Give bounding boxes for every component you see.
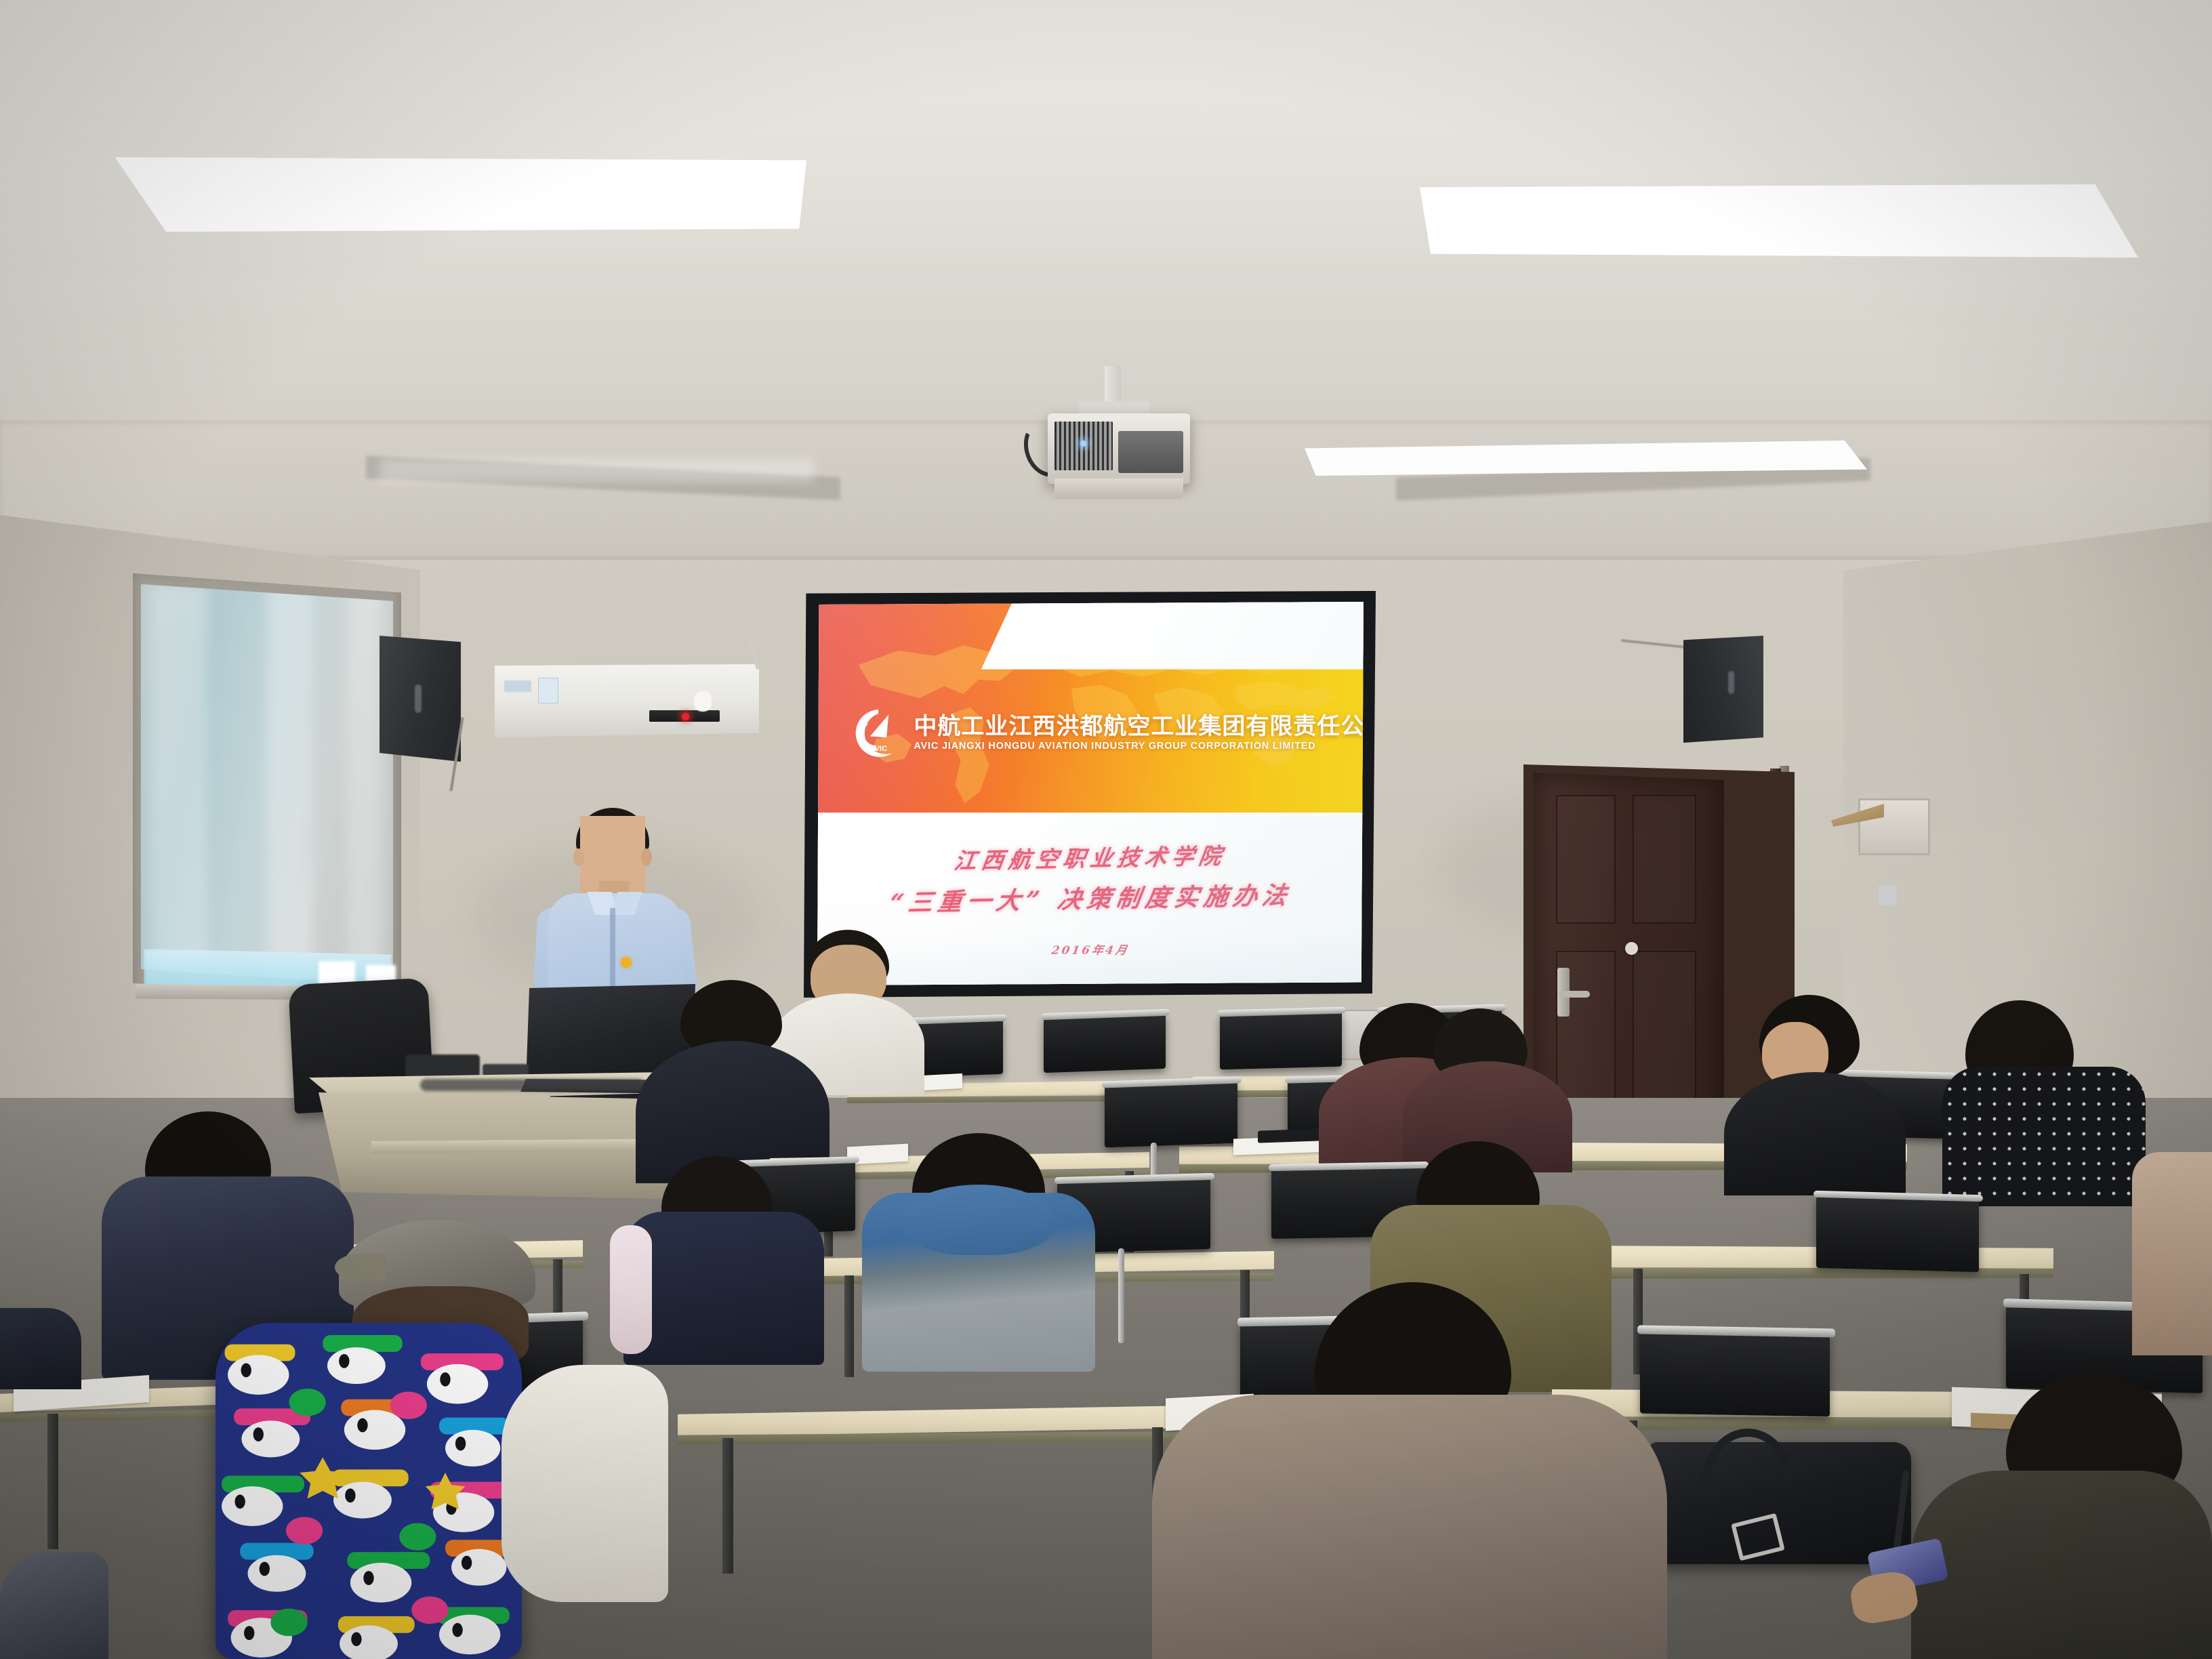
slide-logo-row: AVIC 中航工业江西洪都航空工业集团有限责任公司 AVIC JIANGXI H… (853, 708, 1333, 759)
ceiling-light-glow-left-back (380, 458, 813, 483)
snoopy-backpack-pattern (216, 1323, 522, 1659)
attendee-left-edge-shoulder (0, 1308, 81, 1389)
attendee-tan-jacket-foreground (1152, 1395, 1667, 1659)
avic-logo-wordmark: AVIC (869, 744, 887, 752)
window-roller-blind[interactable] (141, 584, 393, 985)
door-handle-lever[interactable] (1559, 991, 1590, 998)
slide-banner: AVIC 中航工业江西洪都航空工业集团有限责任公司 AVIC JIANGXI H… (817, 602, 1364, 813)
attendee-phone-user (1911, 1471, 2212, 1659)
presenter-ear-left (573, 848, 584, 866)
slide-company-name-cn: 中航工业江西洪都航空工业集团有限责任公司 (914, 714, 1364, 739)
chair-row4-b[interactable] (1044, 1013, 1166, 1073)
air-conditioner-sticker-1 (504, 680, 531, 692)
door-peephole-icon (1625, 942, 1638, 955)
speaker-right-port (1728, 671, 1734, 694)
wall-outlet[interactable] (1879, 885, 1896, 905)
avic-logo: AVIC (853, 708, 904, 759)
attendee-polkadot-blouse (1942, 1067, 2146, 1206)
presenter-ear-right (641, 848, 652, 866)
presenter-badge (621, 957, 632, 968)
chair-row2-d[interactable] (1816, 1196, 1979, 1272)
air-conditioner-power-led (682, 713, 689, 720)
attendee-navy-vest (623, 1212, 824, 1365)
air-conditioner-flap (694, 691, 712, 712)
speaker-left-port (415, 684, 422, 713)
presentation-slide: AVIC 中航工业江西洪都航空工业集团有限责任公司 AVIC JIANGXI H… (817, 602, 1364, 985)
projector-lens-housing (1054, 478, 1183, 499)
chair-row4-c[interactable] (1220, 1011, 1342, 1070)
slide-title-line-2: “三重一大” 决策制度实施办法 (887, 876, 1294, 918)
slide-title-line-1: 江西航空职业技术学院 (952, 838, 1229, 876)
classroom-photo-scene: AVIC 中航工业江西洪都航空工业集团有限责任公司 AVIC JIANGXI H… (0, 0, 2212, 1659)
chair-row3-a[interactable] (1105, 1081, 1237, 1148)
entry-door[interactable] (1533, 773, 1724, 1144)
desk-leg-r1-2 (722, 1438, 733, 1574)
attendee-blue-gray-hoodie-hood (903, 1185, 1054, 1255)
attendee-bottom-left-corner (0, 1552, 108, 1659)
desk-cables (420, 1079, 644, 1091)
air-conditioner-sticker-2 (538, 678, 558, 703)
slide-white-wedge (981, 602, 1364, 670)
projector-power-led (1080, 441, 1086, 447)
attendee-flat-cap-brim (335, 1254, 386, 1281)
attendee-right-edge-shoulder (2132, 1152, 2212, 1355)
ceiling-light-panel-right (1420, 184, 2138, 258)
snoopy-backpack[interactable] (216, 1323, 522, 1659)
slide-body: 江西航空职业技术学院 “三重一大” 决策制度实施办法 2016年4月 (817, 813, 1364, 985)
desk-row2-right-edge (1579, 1267, 2053, 1279)
attendee-black-top-right (1724, 1072, 1906, 1195)
attendee-snoopy-backpack-sleeve (501, 1365, 668, 1602)
electrical-panel[interactable] (1858, 798, 1930, 855)
projector-rear-panel (1118, 431, 1183, 473)
attendee-navy-vest-sleeve (610, 1225, 652, 1354)
chair-row1-c[interactable] (1640, 1331, 1830, 1417)
speaker-right (1683, 636, 1763, 743)
air-conditioner (495, 664, 759, 737)
slide-company-name-en: AVIC JIANGXI HONGDU AVIATION INDUSTRY GR… (914, 741, 1364, 752)
chair-row2-b-frame (1118, 1248, 1124, 1343)
desk-leg-r2-3 (844, 1275, 854, 1377)
desk-leg-r1-1 (47, 1414, 58, 1549)
ceiling-light-panel-left (75, 157, 806, 232)
desk-equipment-1 (405, 1054, 480, 1078)
projection-screen: AVIC 中航工业江西洪都航空工业集团有限责任公司 AVIC JIANGXI H… (817, 602, 1364, 985)
slide-date: 2016年4月 (1050, 941, 1130, 958)
